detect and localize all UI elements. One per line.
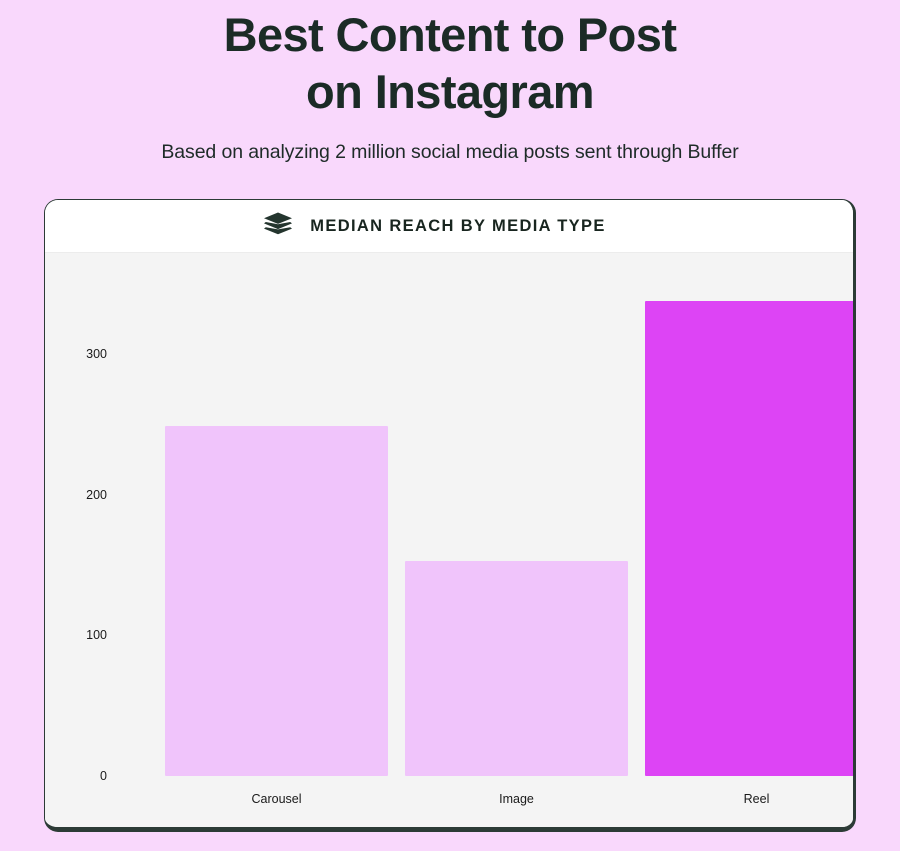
chart-plot-area: 0100200300 CarouselImageReel [45, 253, 853, 829]
page-subtitle: Based on analyzing 2 million social medi… [0, 120, 900, 164]
bars-layer: CarouselImageReel [45, 253, 853, 829]
chart-card-container: MEDIAN REACH BY MEDIA TYPE 0100200300 Ca… [44, 199, 856, 832]
bar-reel[interactable] [645, 301, 856, 776]
page-header: Best Content to Post on Instagram Based … [0, 0, 900, 164]
buffer-layers-icon [263, 212, 293, 240]
page-title-line-1: Best Content to Post [0, 6, 900, 63]
bar-image[interactable] [405, 561, 628, 776]
bar-carousel[interactable] [165, 426, 388, 776]
page-title: Best Content to Post on Instagram [0, 4, 900, 120]
x-axis-label: Carousel [251, 792, 301, 806]
chart-title: MEDIAN REACH BY MEDIA TYPE [292, 217, 605, 236]
chart-card-header: MEDIAN REACH BY MEDIA TYPE [45, 200, 853, 253]
x-axis-label: Image [499, 792, 534, 806]
page-title-line-2: on Instagram [0, 63, 900, 120]
x-axis-label: Reel [744, 792, 770, 806]
chart-card: MEDIAN REACH BY MEDIA TYPE 0100200300 Ca… [44, 199, 856, 832]
